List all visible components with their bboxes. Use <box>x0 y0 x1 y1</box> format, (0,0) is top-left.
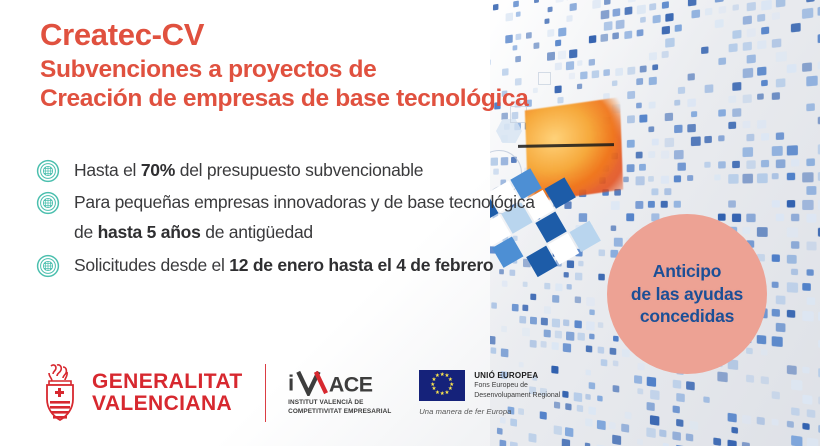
list-item-text: Para pequeñas empresas innovadoras y de … <box>74 190 535 215</box>
eu-subtitle-line-1: Fons Europeu de <box>474 381 560 390</box>
anticipo-line-1: Anticipo <box>631 260 743 282</box>
logo-divider <box>265 364 267 422</box>
gva-line-1: GENERALITAT <box>92 371 243 393</box>
eu-tagline: Una manera de fer Europa <box>419 407 560 416</box>
gva-wordmark: GENERALITAT VALENCIANA <box>92 371 243 416</box>
eu-flag-icon: ★★★★★★★★★★★★ <box>419 370 465 401</box>
gva-line-2: VALENCIANA <box>92 393 243 415</box>
eu-subtitle-line-2: Desenvolupament Regional <box>474 391 560 400</box>
eu-title: UNIÓ EUROPEA <box>474 371 560 381</box>
page-title: Createc-CV <box>40 18 610 51</box>
eu-text-block: UNIÓ EUROPEA Fons Europeu de Desenvolupa… <box>474 371 560 399</box>
anticipo-badge-text: Anticipo de las ayudas concedidas <box>631 260 743 327</box>
generalitat-valenciana-logo: GENERALITAT VALENCIANA <box>38 363 243 423</box>
subtitle-line-1: Subvenciones a proyectos de <box>40 56 610 85</box>
seal-icon <box>36 191 60 215</box>
anticipo-badge: Anticipo de las ayudas concedidas <box>607 214 767 374</box>
ivace-wordmark-icon: i ACE <box>288 370 398 396</box>
eu-logo-row: ★★★★★★★★★★★★ UNIÓ EUROPEA Fons Europeu d… <box>419 370 560 401</box>
list-item-continuation: de hasta 5 años de antigüedad <box>74 220 616 245</box>
seal-icon <box>36 254 60 278</box>
ivace-logo: i ACE INSTITUT VALENCIÀ DE COMPETITIVITA… <box>288 370 398 416</box>
anticipo-line-3: concedidas <box>631 305 743 327</box>
seal-icon <box>36 159 60 183</box>
headline-block: Createc-CV Subvenciones a proyectos de C… <box>40 18 610 114</box>
ivace-subtitle: INSTITUT VALENCIÀ DE COMPETITIVITAT EMPR… <box>288 399 398 416</box>
list-item-text: Solicitudes desde el 12 de enero hasta e… <box>74 253 493 278</box>
list-item: Para pequeñas empresas innovadoras y de … <box>36 190 616 215</box>
gva-shield-icon <box>38 363 82 423</box>
list-item: Hasta el 70% del presupuesto subvenciona… <box>36 158 616 183</box>
svg-text:ACE: ACE <box>329 372 373 396</box>
anticipo-line-2: de las ayudas <box>631 283 743 305</box>
list-item-text: Hasta el 70% del presupuesto subvenciona… <box>74 158 423 183</box>
subtitle-line-2: Creación de empresas de base tecnológica <box>40 85 610 114</box>
ivace-sub-line-2: COMPETITIVITAT EMPRESARIAL <box>288 408 398 416</box>
eu-funding-logo: ★★★★★★★★★★★★ UNIÓ EUROPEA Fons Europeu d… <box>419 370 560 416</box>
ivace-sub-line-1: INSTITUT VALENCIÀ DE <box>288 399 398 407</box>
list-item: Solicitudes desde el 12 de enero hasta e… <box>36 253 616 278</box>
svg-text:i: i <box>288 370 294 395</box>
promotional-banner: Anticipo de las ayudas concedidas Create… <box>0 0 820 446</box>
footer-logos: GENERALITAT VALENCIANA i ACE INSTITUT VA… <box>38 362 560 424</box>
benefit-list: Hasta el 70% del presupuesto subvenciona… <box>36 158 616 286</box>
